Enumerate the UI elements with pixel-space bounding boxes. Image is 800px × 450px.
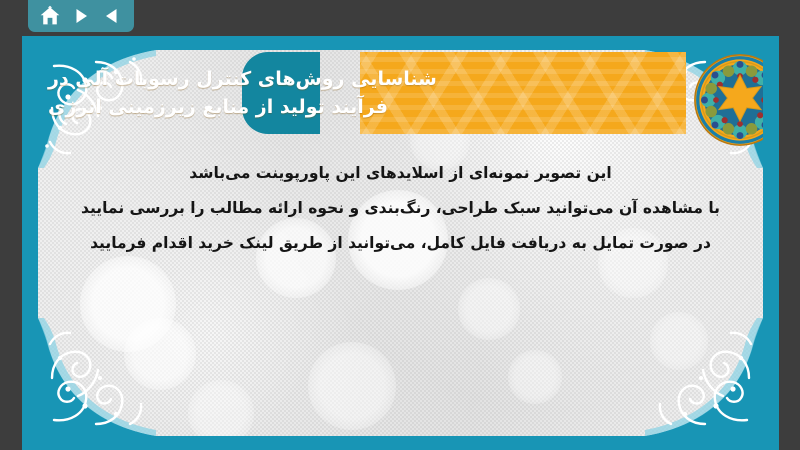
persian-mandala-medallion xyxy=(692,52,763,148)
bokeh-circle xyxy=(80,256,176,352)
bokeh-circle xyxy=(458,278,520,340)
next-triangle-icon xyxy=(71,6,91,26)
bokeh-circle xyxy=(188,380,254,436)
home-icon xyxy=(39,5,61,27)
body-line-3: در صورت تمایل به دریافت فایل کامل، می‌تو… xyxy=(64,226,737,261)
prev-button[interactable] xyxy=(99,3,125,29)
slide-title: شناسایی روش‌های کنترل رسوبات آلی در فرآی… xyxy=(38,52,686,134)
body-line-2: با مشاهده آن می‌توانید سبک طراحی، رنگ‌بن… xyxy=(64,191,737,226)
bokeh-circle xyxy=(308,342,396,430)
bokeh-circle xyxy=(650,312,708,370)
slide-title-line-2: فرآیند تولید از منابع زیرزمینی انرژی xyxy=(48,93,388,121)
slide-viewer: شناسایی روش‌های کنترل رسوبات آلی در فرآی… xyxy=(0,0,800,450)
slide-title-banner: شناسایی روش‌های کنترل رسوبات آلی در فرآی… xyxy=(38,52,686,134)
slide-body-text: این تصویر نمونه‌ای از اسلایدهای این پاور… xyxy=(38,156,763,261)
slide-content-area: شناسایی روش‌های کنترل رسوبات آلی در فرآی… xyxy=(38,50,763,436)
bokeh-circle xyxy=(124,318,196,390)
next-button[interactable] xyxy=(68,3,94,29)
body-line-1: این تصویر نمونه‌ای از اسلایدهای این پاور… xyxy=(64,156,737,191)
slide-title-line-1: شناسایی روش‌های کنترل رسوبات آلی در xyxy=(48,65,437,93)
arabesque-corner-ornament xyxy=(645,318,763,436)
presentation-slide[interactable]: شناسایی روش‌های کنترل رسوبات آلی در فرآی… xyxy=(22,36,779,450)
prev-triangle-icon xyxy=(102,6,122,26)
arabesque-corner-ornament xyxy=(38,318,156,436)
home-button[interactable] xyxy=(37,3,63,29)
bokeh-circle xyxy=(508,350,562,404)
navigation-bar xyxy=(28,0,134,32)
